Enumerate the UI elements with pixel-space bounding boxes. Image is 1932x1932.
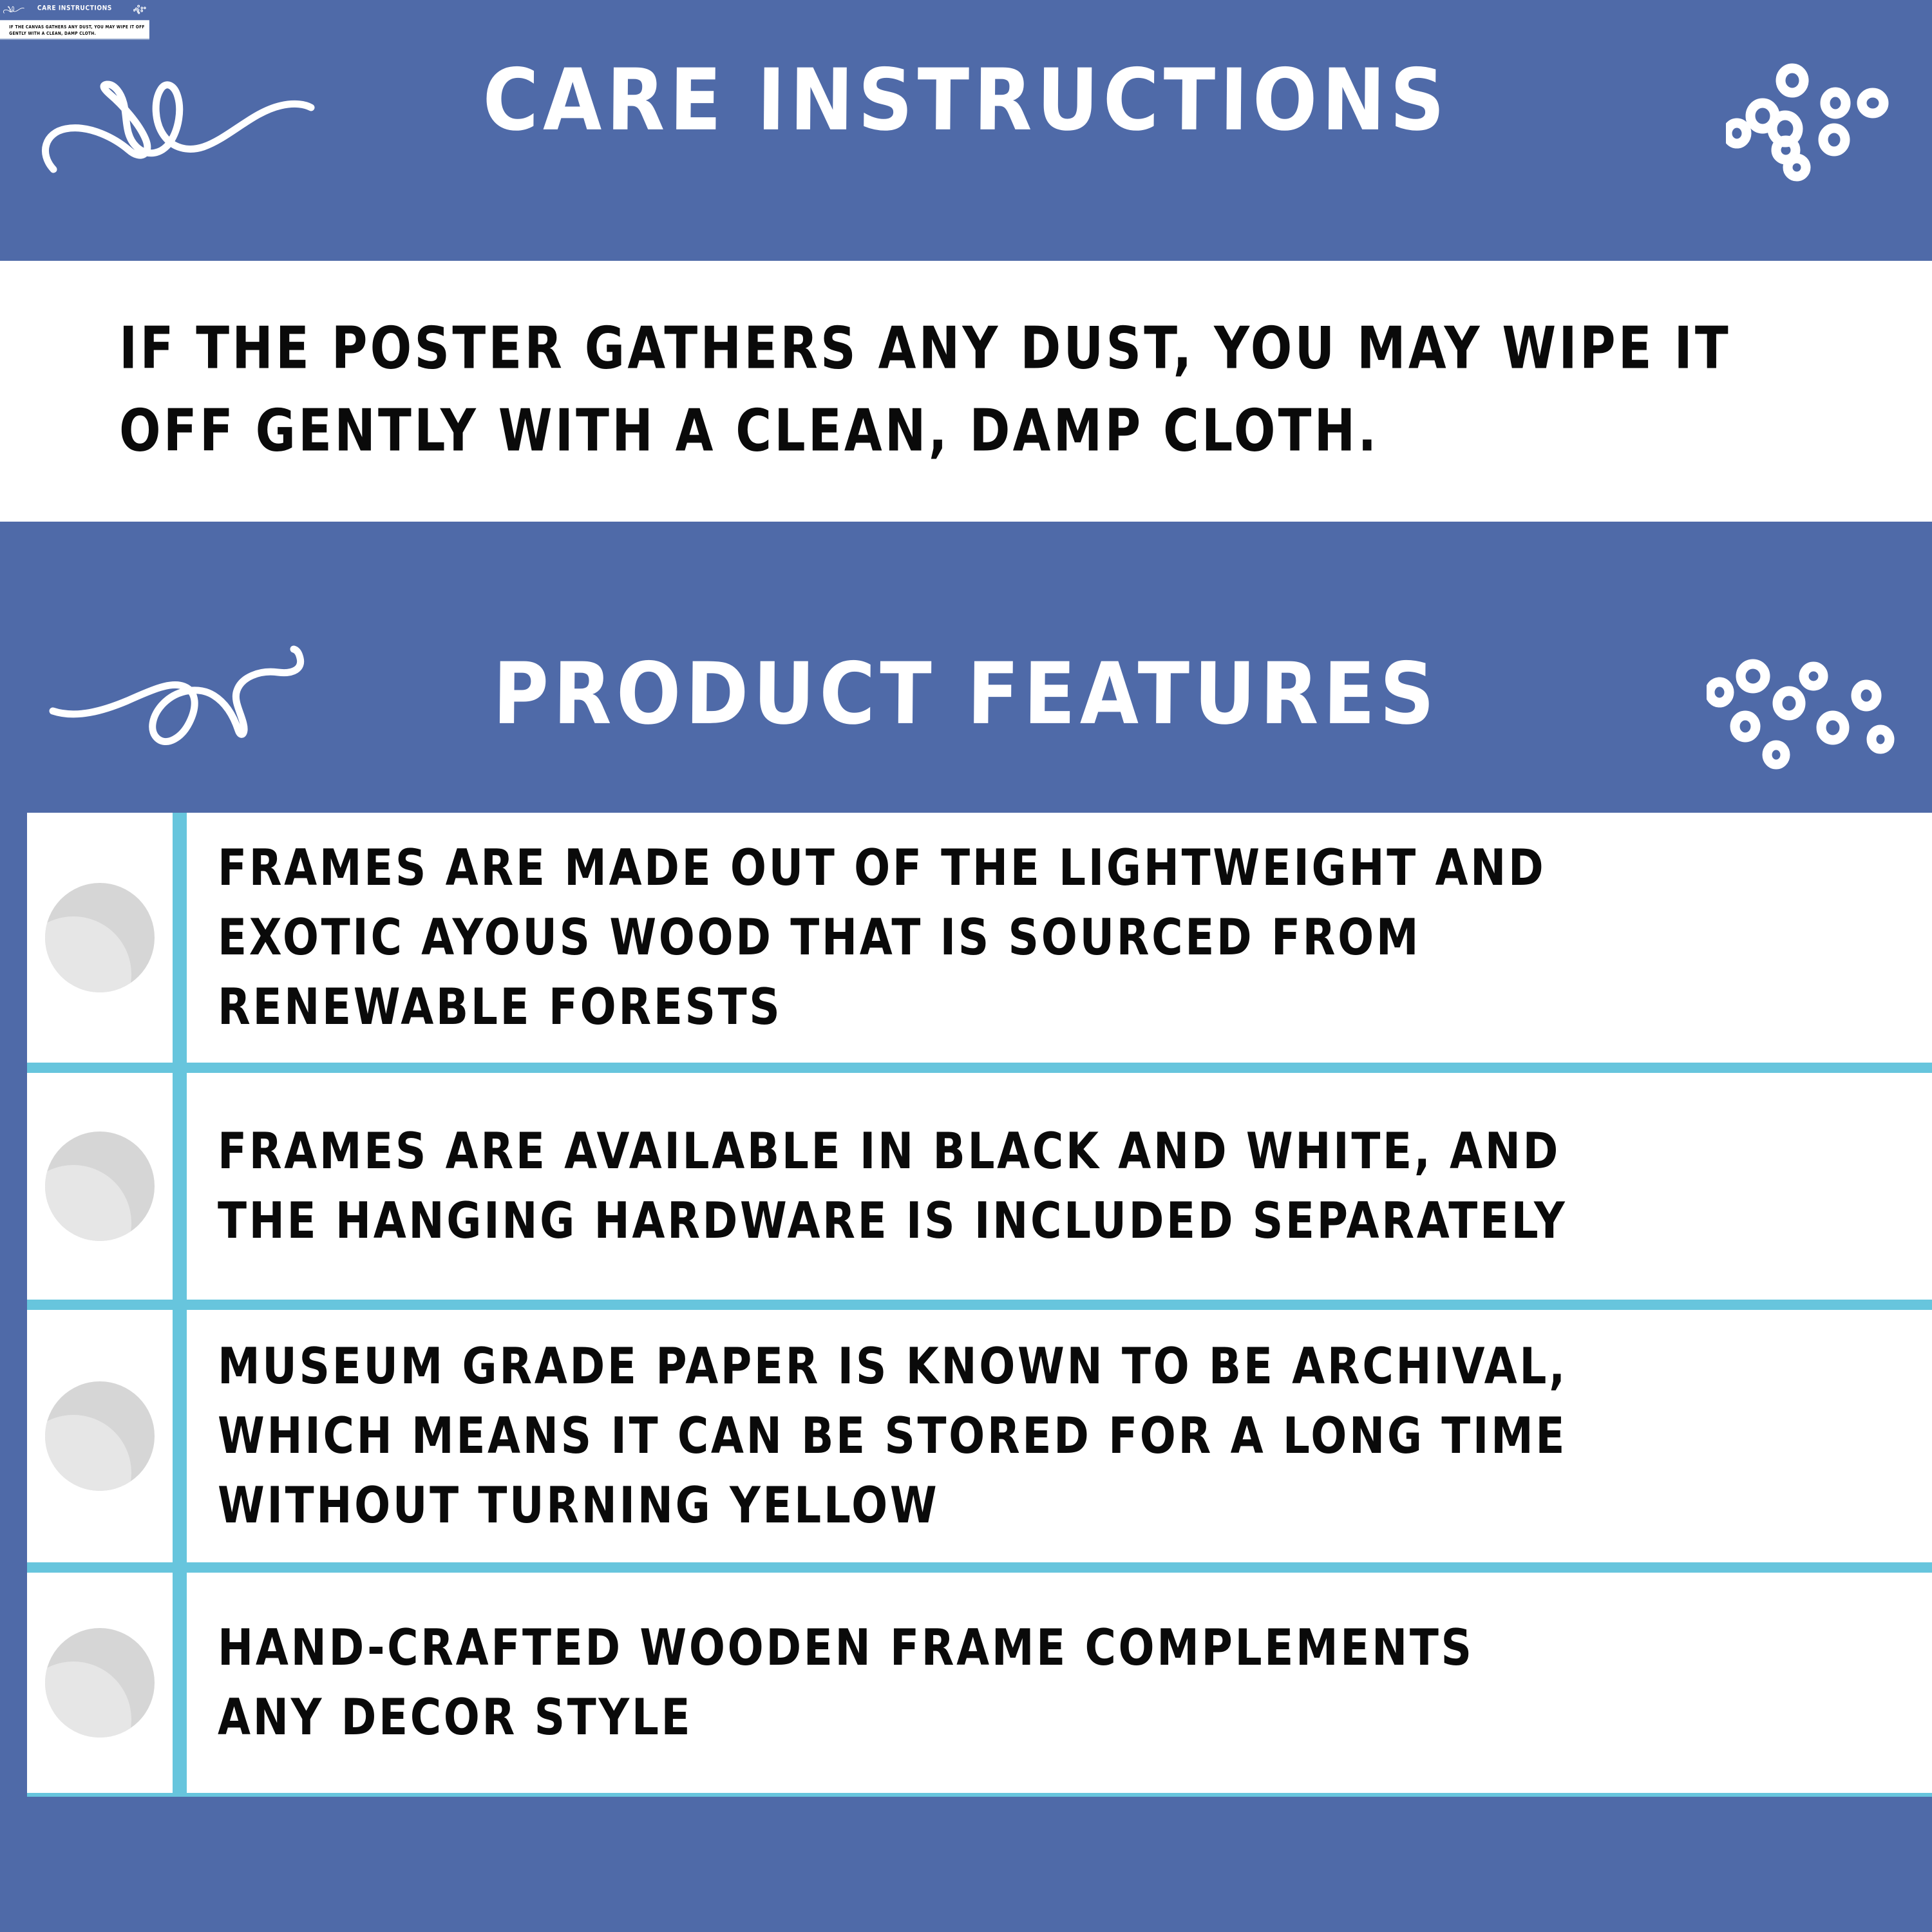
thumbnail-preview[interactable]: CARE INSTRUCTIONS [0, 0, 149, 40]
care-instructions-card: IF THE POSTER GATHERS ANY DUST, YOU MAY … [0, 261, 1932, 522]
feature-row: HAND-CRAFTED WOODEN FRAME COMPLEMENTS AN… [27, 1573, 1932, 1793]
thumbnail-preview-content: CARE INSTRUCTIONS [0, 0, 149, 40]
care-instructions-title: CARE INSTRUCTIONS [0, 57, 1932, 142]
feature-row: MUSEUM GRADE PAPER IS KNOWN TO BE ARCHIV… [27, 1310, 1932, 1562]
grid-divider [173, 813, 187, 1063]
grid-divider [173, 1573, 187, 1793]
feature-text-cell: HAND-CRAFTED WOODEN FRAME COMPLEMENTS AN… [187, 1573, 1932, 1793]
thumbnail-title: CARE INSTRUCTIONS [0, 5, 149, 11]
product-features-title: PRODUCT FEATURES [0, 651, 1932, 736]
feature-image-cell [27, 813, 173, 1063]
thumbnail-band: CARE INSTRUCTIONS [0, 0, 149, 20]
poster-canvas: CARE INSTRUCTIONS IF THE POSTER GATHERS … [0, 0, 1932, 1932]
feature-image-cell [27, 1310, 173, 1562]
grid-divider [173, 1073, 187, 1300]
product-features-grid: FRAMES ARE MADE OUT OF THE LIGHTWEIGHT A… [27, 813, 1932, 1797]
thumbnail-card: IF THE CANVAS GATHERS ANY DUST, YOU MAY … [0, 20, 149, 40]
feature-image-cell [27, 1073, 173, 1300]
feature-line: THE HANGING HARDWARE IS INCLUDED SEPARAT… [218, 1180, 1906, 1262]
feature-line: RENEWABLE FORESTS [218, 966, 1906, 1048]
grid-divider [173, 1310, 187, 1562]
feature-text-cell: MUSEUM GRADE PAPER IS KNOWN TO BE ARCHIV… [187, 1310, 1932, 1562]
feature-line: WITHOUT TURNING YELLOW [218, 1464, 1906, 1546]
image-placeholder-circle-icon [45, 1628, 155, 1738]
care-instructions-text: IF THE POSTER GATHERS ANY DUST, YOU MAY … [119, 307, 1858, 472]
thumbnail-line: GENTLY WITH A CLEAN, DAMP CLOTH. [9, 30, 144, 37]
image-placeholder-circle-icon [45, 883, 155, 992]
feature-row: FRAMES ARE AVAILABLE IN BLACK AND WHITE,… [27, 1073, 1932, 1300]
feature-row: FRAMES ARE MADE OUT OF THE LIGHTWEIGHT A… [27, 813, 1932, 1063]
feature-text-cell: FRAMES ARE AVAILABLE IN BLACK AND WHITE,… [187, 1073, 1932, 1300]
feature-image-cell [27, 1573, 173, 1793]
feature-text-cell: FRAMES ARE MADE OUT OF THE LIGHTWEIGHT A… [187, 813, 1932, 1063]
image-placeholder-circle-icon [45, 1132, 155, 1241]
care-instructions-band: CARE INSTRUCTIONS [0, 0, 1932, 261]
feature-line: ANY DECOR STYLE [218, 1676, 1906, 1758]
thumbnail-text: IF THE CANVAS GATHERS ANY DUST, YOU MAY … [9, 24, 144, 37]
image-placeholder-circle-icon [45, 1381, 155, 1491]
care-instructions-line: OFF GENTLY WITH A CLEAN, DAMP CLOTH. [119, 382, 1858, 479]
